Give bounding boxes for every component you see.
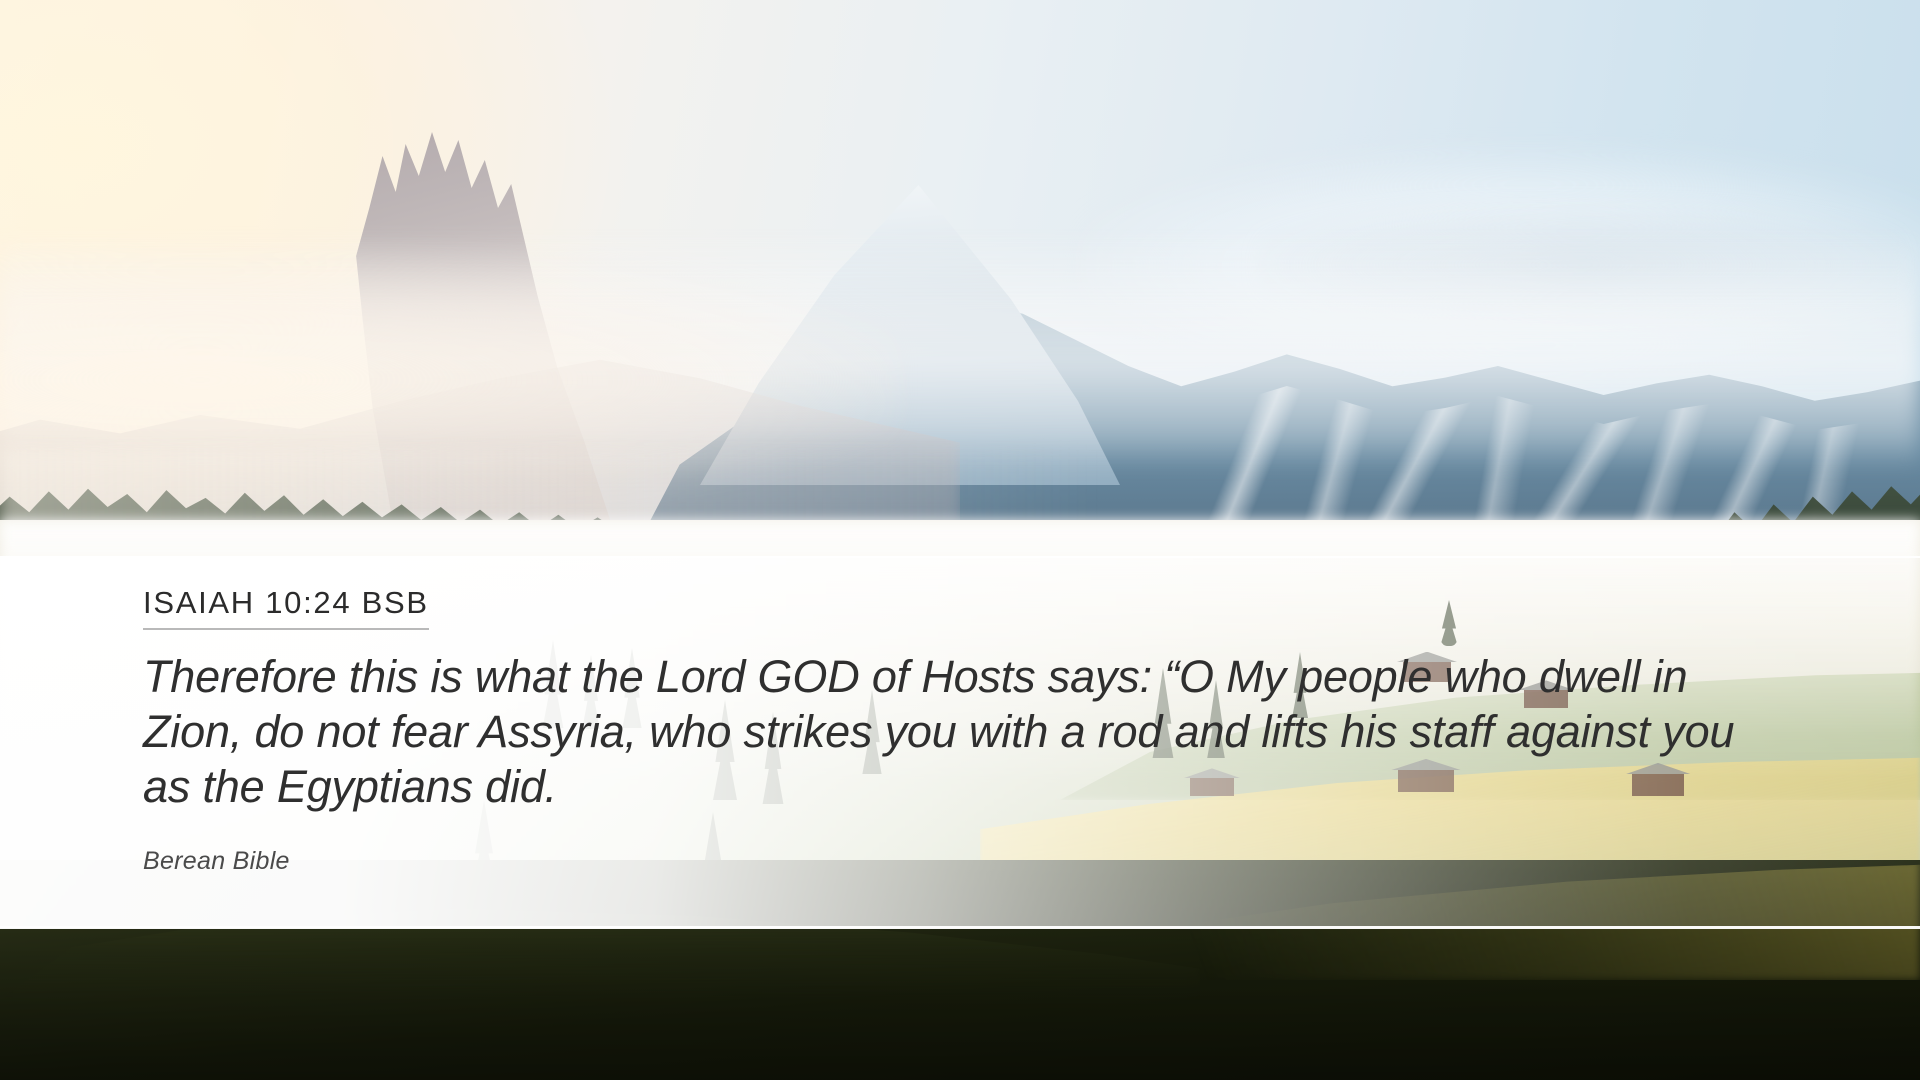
verse-reference: ISAIAH 10:24 BSB <box>143 585 429 630</box>
verse-graphic-canvas: ISAIAH 10:24 BSB Therefore this is what … <box>0 0 1920 1080</box>
band-bottom-rule <box>0 926 1920 929</box>
verse-text: Therefore this is what the Lord GOD of H… <box>143 649 1773 814</box>
verse-block: ISAIAH 10:24 BSB Therefore this is what … <box>143 585 1823 876</box>
verse-attribution: Berean Bible <box>143 847 1823 876</box>
